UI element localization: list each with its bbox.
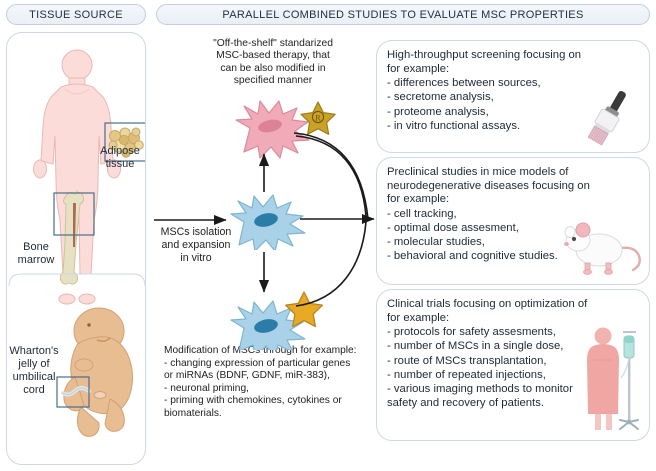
fetus-umbilical-cord-figure: [53, 295, 146, 455]
preclinical-title-line-1: Preclinical studies in mice models of: [387, 166, 568, 178]
label-bone-marrow: Bonemarrow: [9, 241, 63, 267]
laboratory-mouse-icon: [561, 214, 645, 278]
label-whartons-jelly: Wharton'sjelly ofumbilicalcord: [7, 345, 61, 397]
off-the-shelf-caption: "Off-the-shelf" standarized MSC-based th…: [176, 38, 370, 88]
msc-isolation-caption: MSCs isolation and expansion in vitro: [150, 226, 242, 265]
registered-trademark-star-badge: R: [301, 102, 335, 134]
study-card-clinical-trials: Clinical trials focusing on optimization…: [376, 289, 650, 441]
msc-modification-caption: Modification of MSCs through for example…: [164, 345, 376, 421]
isolation-line-3: in vitro: [180, 252, 211, 264]
header-tissue-source-label: TISSUE SOURCE: [29, 9, 123, 21]
modification-item-2: or miRNAs (BDNF, GDNF, miR-383),: [164, 370, 376, 383]
off-the-shelf-line-2: MSC-based therapy, that: [216, 50, 330, 61]
clinical-title-line-1: Clinical trials focusing on optimization…: [387, 298, 587, 310]
modification-item-1: - changing expression of particular gene…: [164, 358, 376, 371]
isolation-line-1: MSCs isolation: [161, 226, 232, 238]
tissue-source-panel: Adiposetissue Bonemarrow Wharton'sjelly …: [6, 32, 146, 465]
off-the-shelf-line-1: "Off-the-shelf" standarized: [213, 38, 333, 49]
pink-msc-cell-branded: R: [234, 98, 346, 160]
study-card-high-throughput-screening: High-throughput screening focusing on fo…: [376, 40, 650, 153]
screening-title-line-1: High-throughput screening focusing on: [387, 49, 581, 61]
off-the-shelf-line-4: specified manner: [234, 75, 312, 86]
preclinical-title-line-3: for example:: [387, 193, 449, 205]
blue-msc-cell-modified: [230, 288, 342, 350]
modification-item-4: - priming with chemokines, cytokines or: [164, 395, 376, 408]
study-card-preclinical-studies: Preclinical studies in mice models of ne…: [376, 157, 650, 285]
blue-msc-cell: [230, 192, 334, 250]
modification-item-5: biomaterials.: [164, 408, 376, 421]
multichannel-pipette-icon: [575, 86, 643, 148]
modification-item-3: - neuronal priming,: [164, 383, 376, 396]
off-the-shelf-line-3: can be also modified in: [220, 63, 325, 74]
header-parallel-studies: PARALLEL COMBINED STUDIES TO EVALUATE MS…: [156, 4, 650, 25]
isolation-line-2: and expansion: [162, 239, 231, 251]
patient-iv-drip-icon: [585, 324, 647, 436]
clinical-title-line-2: for example:: [387, 312, 449, 324]
header-tissue-source: TISSUE SOURCE: [6, 4, 146, 25]
screening-title-line-2: for example:: [387, 63, 449, 75]
label-adipose-tissue: Adiposetissue: [95, 145, 145, 171]
preclinical-title-line-2: neurodegenerative diseases focusing on: [387, 180, 590, 192]
svg-text:R: R: [315, 114, 321, 123]
header-parallel-studies-label: PARALLEL COMBINED STUDIES TO EVALUATE MS…: [222, 9, 583, 21]
